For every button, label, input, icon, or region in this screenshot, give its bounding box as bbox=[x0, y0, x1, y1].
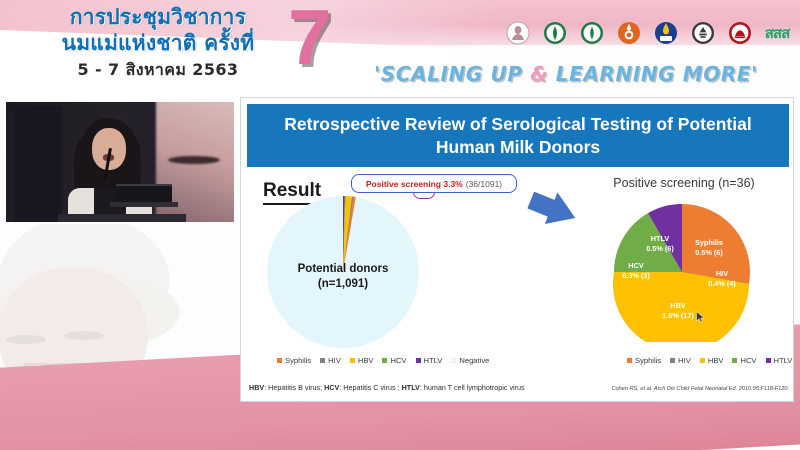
legend-swatch-hiv-right bbox=[670, 358, 675, 363]
laptop-base bbox=[110, 202, 178, 207]
potential-donors-name: Potential donors bbox=[265, 262, 421, 277]
presenter-video[interactable] bbox=[4, 100, 236, 224]
baby-eye-left bbox=[6, 335, 46, 344]
conference-title-thai: การประชุมวิชาการ นมแม่แห่งชาติ ครั้งที่ … bbox=[18, 4, 298, 83]
logo-wrap-6 bbox=[688, 20, 718, 46]
podium bbox=[58, 214, 186, 224]
conference-header: การประชุมวิชาการ นมแม่แห่งชาติ ครั้งที่ … bbox=[0, 0, 800, 92]
callout-fraction-text: (36/1091) bbox=[466, 179, 502, 189]
legend-swatch-hcv bbox=[382, 358, 387, 363]
conference-date: 5 - 7 สิงหาคม 2563 bbox=[18, 58, 298, 83]
legend-item-syphilis: Syphilis bbox=[277, 356, 311, 365]
slice-label-hiv-name: HIV bbox=[716, 269, 728, 278]
positive-screening-pie-chart: Syphilis 0.5% (6) HIV 0.4% (4) HBV 1.6% … bbox=[612, 202, 752, 342]
legend-swatch-htlv-right bbox=[766, 358, 771, 363]
royal-emblem-icon bbox=[505, 20, 531, 46]
logo-wrap-8: สสส bbox=[762, 21, 792, 45]
slice-label-hbv-name: HBV bbox=[670, 301, 686, 310]
positive-screening-callout: Positive screening 3.3% (36/1091) bbox=[351, 174, 517, 193]
legend-swatch-htlv bbox=[416, 358, 421, 363]
potential-donors-count: (n=1,091) bbox=[265, 277, 421, 292]
abbr-htlv: HTLV bbox=[402, 383, 420, 392]
legend-swatch-negative bbox=[451, 358, 456, 363]
legend-item-hbv-right: HBV bbox=[700, 356, 724, 365]
legend-item-hcv: HCV bbox=[382, 356, 406, 365]
health-ministry-icon bbox=[579, 20, 605, 46]
legend-label-hbv: HBV bbox=[358, 356, 374, 365]
legend-item-syphilis-right: Syphilis bbox=[627, 356, 661, 365]
citation-reference: Cohen RS, et al. Arch Dis Child Fetal Ne… bbox=[611, 386, 789, 392]
abbr-htlv-def: : human T cell lymphotropic virus bbox=[420, 383, 525, 392]
slice-label-hcv-value: 0.3% (3) bbox=[622, 271, 650, 280]
legend-label-hcv-right: HCV bbox=[740, 356, 756, 365]
abbr-hbv: HBV bbox=[249, 383, 264, 392]
conference-tagline: 'SCALING UP & LEARNING MORE' bbox=[338, 62, 794, 86]
legend-label-hbv-right: HBV bbox=[708, 356, 724, 365]
legend-item-htlv-right: HTLV bbox=[766, 356, 793, 365]
legend-label-hcv: HCV bbox=[390, 356, 406, 365]
edition-number: 7 bbox=[288, 0, 331, 76]
slice-label-syphilis-value: 0.5% (6) bbox=[695, 248, 723, 257]
tagline-part1: 'SCALING UP bbox=[374, 62, 530, 86]
medical-association-icon bbox=[542, 20, 568, 46]
legend-label-hiv: HIV bbox=[328, 356, 341, 365]
logo-wrap-7 bbox=[725, 20, 755, 46]
institute-seal-red-icon bbox=[727, 20, 753, 46]
podium-base bbox=[64, 222, 180, 224]
legend-label-syphilis: Syphilis bbox=[285, 356, 311, 365]
positive-screening-legend: Syphilis HIV HBV HCV HTLV bbox=[627, 356, 792, 365]
screen: การประชุมวิชาการ นมแม่แห่งชาติ ครั้งที่ … bbox=[0, 0, 800, 450]
legend-label-htlv-right: HTLV bbox=[774, 356, 793, 365]
legend-label-hiv-right: HIV bbox=[678, 356, 691, 365]
slide-footnote: HBV: Hepatitis B virus; HCV: Hepatitis C… bbox=[249, 383, 789, 392]
legend-swatch-hbv-right bbox=[700, 358, 705, 363]
video-wall-panel-left bbox=[14, 106, 62, 222]
university-seal-orange-icon bbox=[616, 20, 642, 46]
legend-item-hiv: HIV bbox=[320, 356, 341, 365]
logo-wrap-3 bbox=[577, 20, 607, 46]
potential-donors-label: Potential donors (n=1,091) bbox=[265, 262, 421, 292]
slide-body: Result Positive screening 3.3% (36/1091) bbox=[241, 170, 795, 403]
legend-swatch-hcv-right bbox=[732, 358, 737, 363]
conference-title-line1: การประชุมวิชาการ bbox=[18, 4, 298, 30]
slice-label-syphilis-name: Syphilis bbox=[695, 238, 723, 247]
legend-item-htlv: HTLV bbox=[416, 356, 443, 365]
logo-wrap-2 bbox=[540, 20, 570, 46]
abbr-hcv-def: : Hepatitis C virus ; bbox=[339, 383, 401, 392]
conference-title-line2: นมแม่แห่งชาติ ครั้งที่ bbox=[18, 30, 298, 56]
abbr-hcv: HCV bbox=[324, 383, 339, 392]
legend-label-htlv: HTLV bbox=[424, 356, 443, 365]
legend-item-hcv-right: HCV bbox=[732, 356, 756, 365]
laptop-screen bbox=[116, 184, 172, 204]
sponsor-logos: สสส bbox=[503, 20, 792, 46]
legend-label-syphilis-right: Syphilis bbox=[635, 356, 661, 365]
baby-eye-right bbox=[64, 331, 104, 340]
presentation-slide: Retrospective Review of Serological Test… bbox=[240, 97, 794, 402]
transition-arrow-icon bbox=[527, 192, 579, 234]
callout-strong-text: Positive screening 3.3% bbox=[366, 179, 463, 189]
slide-title: Retrospective Review of Serological Test… bbox=[247, 104, 789, 167]
mouse-cursor-icon bbox=[696, 310, 705, 322]
legend-swatch-hiv bbox=[320, 358, 325, 363]
video-foreground-blur-eye bbox=[168, 156, 220, 164]
logo-wrap-5 bbox=[651, 20, 681, 46]
slice-label-htlv-name: HTLV bbox=[651, 234, 670, 243]
legend-item-hbv: HBV bbox=[350, 356, 374, 365]
legend-label-negative: Negative bbox=[459, 356, 489, 365]
abbr-hbv-def: : Hepatitis B virus; bbox=[264, 383, 324, 392]
institute-seal-dark-icon bbox=[690, 20, 716, 46]
thaihealth-logo-text: สสส bbox=[765, 21, 789, 45]
slice-label-htlv-value: 0.5% (6) bbox=[646, 244, 674, 253]
logo-wrap-4 bbox=[614, 20, 644, 46]
potential-donors-legend: Syphilis HIV HBV HCV HTLV bbox=[277, 356, 489, 365]
tagline-ampersand: & bbox=[530, 62, 548, 86]
legend-item-hiv-right: HIV bbox=[670, 356, 691, 365]
slice-label-hbv-value: 1.6% (17) bbox=[662, 311, 694, 320]
legend-swatch-syphilis bbox=[277, 358, 282, 363]
slice-label-hiv-value: 0.4% (4) bbox=[708, 279, 736, 288]
legend-swatch-syphilis-right bbox=[627, 358, 632, 363]
positive-screening-pie-svg: Syphilis 0.5% (6) HIV 0.4% (4) HBV 1.6% … bbox=[612, 202, 752, 342]
tagline-part2: LEARNING MORE' bbox=[548, 62, 758, 86]
logo-wrap-1 bbox=[503, 20, 533, 46]
slice-label-hcv-name: HCV bbox=[628, 261, 644, 270]
abbreviation-note: HBV: Hepatitis B virus; HCV: Hepatitis C… bbox=[249, 383, 525, 392]
legend-item-negative: Negative bbox=[451, 356, 489, 365]
potential-donors-pie-chart: Potential donors (n=1,091) bbox=[265, 194, 421, 350]
legend-swatch-hbv bbox=[350, 358, 355, 363]
positive-screening-heading: Positive screening (n=36) bbox=[573, 176, 795, 190]
university-seal-blue-icon bbox=[653, 20, 679, 46]
